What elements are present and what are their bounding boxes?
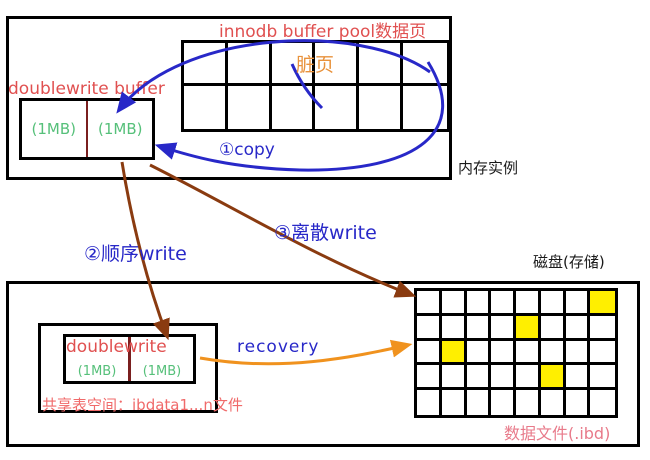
buffer-pool-cell — [228, 43, 272, 86]
data-file-cell — [467, 390, 492, 415]
data-file-cell — [442, 316, 467, 341]
data-file-cell — [541, 390, 566, 415]
data-file-cell — [541, 316, 566, 341]
data-file-cell — [417, 390, 442, 415]
buffer-pool-cell — [184, 86, 228, 129]
buffer-pool-cell — [359, 86, 403, 129]
data-file-cell — [467, 291, 492, 316]
data-file-cell — [467, 316, 492, 341]
buffer-pool-cell — [359, 43, 403, 86]
data-file-cell — [590, 341, 615, 366]
arrow-label-scatter-write: ③离散write — [274, 218, 377, 245]
data-file-cell-dirty — [590, 291, 615, 316]
data-file-cell — [442, 365, 467, 390]
buffer-pool-cell — [315, 86, 359, 129]
data-file-cell — [566, 316, 591, 341]
data-file-cell — [417, 365, 442, 390]
data-file-cell — [516, 365, 541, 390]
doublewrite-disk-word: doublewrite — [66, 337, 167, 357]
doublewrite-buffer-left-size: (1MB) — [22, 101, 86, 157]
arrow-label-copy: ①copy — [219, 140, 275, 160]
buffer-pool-cell — [403, 43, 447, 86]
data-file-caption: 数据文件(.ibd) — [504, 420, 610, 444]
doublewrite-buffer-right-size: (1MB) — [88, 101, 152, 157]
doublewrite-buffer-title: doublewrite buffer — [8, 79, 165, 99]
data-file-cell-dirty — [541, 365, 566, 390]
data-file-cell — [590, 365, 615, 390]
data-file-cell — [566, 341, 591, 366]
data-file-cell — [516, 390, 541, 415]
disk-storage-label: 磁盘(存储) — [533, 251, 605, 272]
data-file-cell — [541, 291, 566, 316]
buffer-pool-cell — [272, 86, 316, 129]
buffer-pool-cell — [403, 86, 447, 129]
innodb-buffer-pool-title: innodb buffer pool数据页 — [219, 17, 426, 42]
data-file-grid — [414, 288, 618, 418]
data-file-cell — [516, 291, 541, 316]
data-file-cell — [442, 390, 467, 415]
data-file-cell — [590, 316, 615, 341]
arrow-label-recovery: recovery — [237, 337, 319, 357]
data-file-cell — [541, 341, 566, 366]
buffer-pool-cell — [228, 86, 272, 129]
data-file-cell — [491, 291, 516, 316]
arrow-label-sequential-write: ②顺序write — [84, 239, 187, 266]
data-file-cell-dirty — [442, 341, 467, 366]
data-file-cell — [566, 291, 591, 316]
data-file-cell — [516, 341, 541, 366]
shared-tablespace-caption: 共享表空间：ibdata1...n文件 — [42, 394, 243, 415]
data-file-cell — [442, 291, 467, 316]
data-file-cell — [491, 365, 516, 390]
data-file-cell — [491, 390, 516, 415]
data-file-cell — [467, 341, 492, 366]
data-file-cell — [566, 365, 591, 390]
buffer-pool-cell — [184, 43, 228, 86]
data-file-cell — [491, 341, 516, 366]
data-file-cell-dirty — [516, 316, 541, 341]
diagram-canvas: 内存实例 innodb buffer pool数据页 脏页 doublewrit… — [0, 0, 650, 460]
doublewrite-buffer-box: (1MB) (1MB) — [19, 98, 155, 160]
memory-instance-label: 内存实例 — [458, 157, 518, 178]
data-file-cell — [417, 341, 442, 366]
data-file-cell — [566, 390, 591, 415]
dirty-page-label: 脏页 — [296, 50, 334, 77]
data-file-cell — [467, 365, 492, 390]
data-file-cell — [417, 316, 442, 341]
data-file-cell — [590, 390, 615, 415]
data-file-cell — [417, 291, 442, 316]
data-file-cell — [491, 316, 516, 341]
